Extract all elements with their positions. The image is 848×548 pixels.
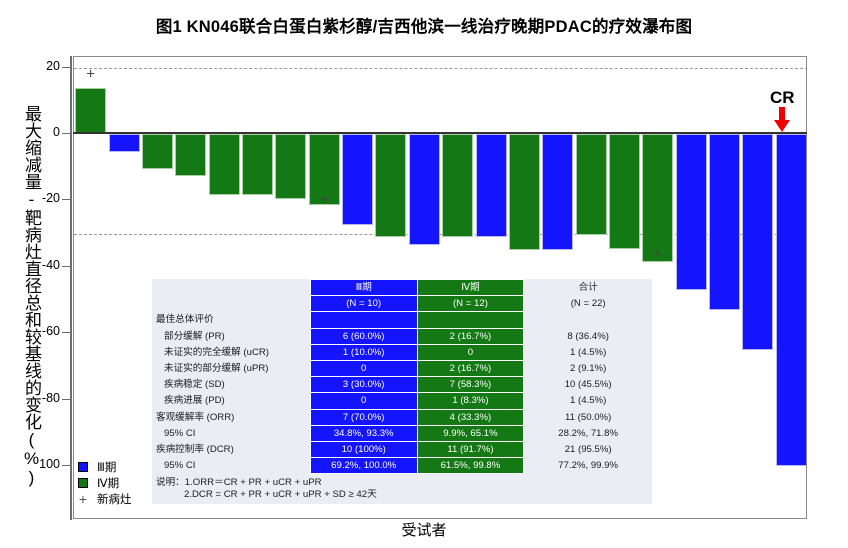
cell-total: 21 (95.5%): [524, 442, 652, 458]
table-note: 说明：1.ORR＝CR + PR + uCR + uPR2.DCR = CR +…: [152, 474, 652, 505]
table-subheader-row: (N = 10)(N = 12)(N = 22): [152, 296, 652, 312]
y-tick-label: -40: [0, 258, 60, 272]
table-row: 疾病稳定 (SD)3 (30.0%)7 (58.3%)10 (45.5%): [152, 377, 652, 393]
waterfall-bar: [375, 134, 406, 237]
cell-stage-iv: [417, 312, 524, 328]
cell-total: 1 (4.5%): [524, 344, 652, 360]
waterfall-bar: [509, 134, 540, 250]
row-label: 95% CI: [152, 425, 310, 441]
cell-stage-iv: 4 (33.3%): [417, 409, 524, 425]
cell-total: [524, 312, 652, 328]
cell-total: 11 (50.0%): [524, 409, 652, 425]
row-label: 未证实的部分缓解 (uPR): [152, 361, 310, 377]
cell-total: 10 (45.5%): [524, 377, 652, 393]
y-tick-label: 20: [0, 59, 60, 73]
reference-line: [74, 68, 806, 69]
waterfall-bar: [442, 134, 473, 237]
y-tick: [62, 266, 71, 267]
row-label: 95% CI: [152, 458, 310, 474]
plus-marker-icon: +: [653, 246, 662, 261]
plus-marker-icon: +: [78, 494, 88, 504]
row-label: 未证实的完全缓解 (uCR): [152, 344, 310, 360]
waterfall-bar: [275, 134, 306, 199]
table-note-row: 说明：1.ORR＝CR + PR + uCR + uPR2.DCR = CR +…: [152, 474, 652, 505]
y-tick: [62, 199, 71, 200]
legend-label: Ⅲ期: [97, 459, 116, 475]
cell-stage-iii: 7 (70.0%): [310, 409, 417, 425]
row-label: 疾病进展 (PD): [152, 393, 310, 409]
waterfall-figure: 图1 KN046联合白蛋白紫杉醇/吉西他滨一线治疗晚期PDAC的疗效瀑布图 最大…: [0, 0, 848, 548]
waterfall-bar: [609, 134, 640, 249]
cell-stage-iv: 11 (91.7%): [417, 442, 524, 458]
cell-stage-iv: 2 (16.7%): [417, 328, 524, 344]
waterfall-bar: [242, 134, 273, 195]
cell-total: 28.2%, 71.8%: [524, 425, 652, 441]
y-tick: [62, 332, 71, 333]
y-axis-line: [70, 56, 72, 520]
cell-stage-iv: 2 (16.7%): [417, 361, 524, 377]
col-header-stage-iii: Ⅲ期: [310, 280, 417, 296]
chart-legend: Ⅲ期Ⅳ期+新病灶: [78, 459, 132, 507]
col-header-total: 合计: [524, 280, 652, 296]
waterfall-bar: [709, 134, 740, 310]
y-tick-label: -60: [0, 324, 60, 338]
cell-stage-iv: 1 (8.3%): [417, 393, 524, 409]
cell-stage-iv: 0: [417, 344, 524, 360]
cell-stage-iv: 61.5%, 99.8%: [417, 458, 524, 474]
waterfall-bar: [75, 88, 106, 134]
cell-stage-iii: 10 (100%): [310, 442, 417, 458]
waterfall-bar: [676, 134, 707, 290]
y-tick: [62, 67, 71, 68]
table-row: 部分缓解 (PR)6 (60.0%)2 (16.7%)8 (36.4%): [152, 328, 652, 344]
subheader-stage-iii: (N = 10): [310, 296, 417, 312]
legend-item: Ⅳ期: [78, 475, 132, 490]
table-row: 客观缓解率 (ORR)7 (70.0%)4 (33.3%)11 (50.0%): [152, 409, 652, 425]
waterfall-bar: [209, 134, 240, 195]
y-tick-label: 0: [0, 125, 60, 139]
x-axis-title: 受试者: [0, 519, 848, 540]
cell-stage-iii: 1 (10.0%): [310, 344, 417, 360]
plus-marker-icon: +: [320, 193, 329, 208]
legend-label: Ⅳ期: [97, 475, 119, 491]
cell-total: 8 (36.4%): [524, 328, 652, 344]
green-square-icon: [78, 478, 88, 488]
waterfall-bar: [742, 134, 773, 350]
cell-total: 77.2%, 99.9%: [524, 458, 652, 474]
table-note-line-2: 2.DCR = CR + PR + uCR + uPR + SD ≥ 42天: [156, 489, 648, 501]
zero-baseline: [73, 132, 807, 134]
subheader-total: (N = 22): [524, 296, 652, 312]
y-axis-title: 最大缩减量-靶病灶直径总和较基线的变化(%): [14, 86, 40, 506]
cell-total: 1 (4.5%): [524, 393, 652, 409]
efficacy-summary-table: Ⅲ期Ⅳ期合计(N = 10)(N = 12)(N = 22)最佳总体评价部分缓解…: [152, 279, 652, 504]
cell-stage-iii: 0: [310, 361, 417, 377]
row-label: 疾病控制率 (DCR): [152, 442, 310, 458]
waterfall-bar: [642, 134, 673, 262]
waterfall-bar: [175, 134, 206, 176]
waterfall-bar: [409, 134, 440, 245]
row-label: 部分缓解 (PR): [152, 328, 310, 344]
plus-marker-icon: +: [86, 67, 95, 82]
waterfall-bar: [576, 134, 607, 235]
waterfall-bar: [109, 134, 140, 152]
legend-item: +新病灶: [78, 491, 132, 506]
table-row: 95% CI34.8%, 93.3%9.9%, 65.1%28.2%, 71.8…: [152, 425, 652, 441]
waterfall-bar: [342, 134, 373, 225]
table-note-line-1: 说明：1.ORR＝CR + PR + uCR + uPR: [156, 477, 648, 489]
cell-total: 2 (9.1%): [524, 361, 652, 377]
table-row: 未证实的完全缓解 (uCR)1 (10.0%)01 (4.5%): [152, 344, 652, 360]
cell-stage-iii: 69.2%, 100.0%: [310, 458, 417, 474]
cell-stage-iii: 34.8%, 93.3%: [310, 425, 417, 441]
row-label: 最佳总体评价: [152, 312, 310, 328]
legend-label: 新病灶: [97, 491, 132, 507]
cell-stage-iii: 6 (60.0%): [310, 328, 417, 344]
down-arrow-icon: [773, 107, 791, 138]
row-label: 疾病稳定 (SD): [152, 377, 310, 393]
y-tick: [62, 133, 71, 134]
waterfall-bar: [542, 134, 573, 250]
subheader-stage-iv: (N = 12): [417, 296, 524, 312]
row-label: 客观缓解率 (ORR): [152, 409, 310, 425]
cell-stage-iv: 9.9%, 65.1%: [417, 425, 524, 441]
y-tick-label: 100: [0, 457, 60, 471]
figure-title: 图1 KN046联合白蛋白紫杉醇/吉西他滨一线治疗晚期PDAC的疗效瀑布图: [0, 13, 848, 37]
col-header-stage-iv: Ⅳ期: [417, 280, 524, 296]
y-tick: [62, 465, 71, 466]
cell-stage-iii: [310, 312, 417, 328]
waterfall-bar: [776, 134, 806, 466]
cell-stage-iii: 3 (30.0%): [310, 377, 417, 393]
table-header-row: Ⅲ期Ⅳ期合计: [152, 280, 652, 296]
table-corner: [152, 280, 310, 296]
cell-stage-iv: 7 (58.3%): [417, 377, 524, 393]
cr-annotation-label: CR: [770, 88, 795, 108]
waterfall-bar: [142, 134, 173, 169]
table-row: 疾病进展 (PD)01 (8.3%)1 (4.5%): [152, 393, 652, 409]
cell-stage-iii: 0: [310, 393, 417, 409]
y-tick: [62, 399, 71, 400]
y-tick-label: -80: [0, 391, 60, 405]
y-tick-label: -20: [0, 191, 60, 205]
table-row: 95% CI69.2%, 100.0%61.5%, 99.8%77.2%, 99…: [152, 458, 652, 474]
table-corner: [152, 296, 310, 312]
blue-square-icon: [78, 462, 88, 472]
table-row: 最佳总体评价: [152, 312, 652, 328]
waterfall-bar: [476, 134, 507, 237]
table-row: 未证实的部分缓解 (uPR)02 (16.7%)2 (9.1%): [152, 361, 652, 377]
legend-item: Ⅲ期: [78, 459, 132, 474]
table-row: 疾病控制率 (DCR)10 (100%)11 (91.7%)21 (95.5%): [152, 442, 652, 458]
